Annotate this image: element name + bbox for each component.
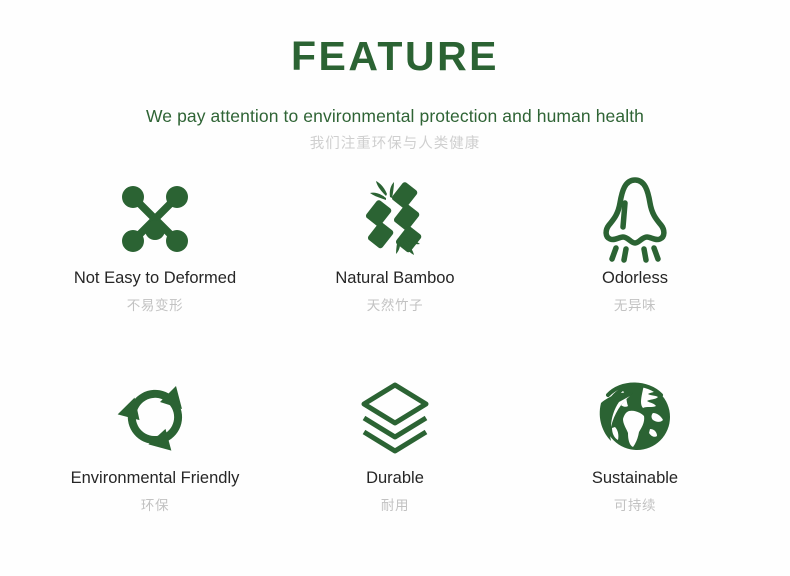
globe-leaf-icon [593, 369, 677, 465]
page-title: FEATURE [0, 36, 790, 77]
feature-item-sustainable: Sustainable 可持续 [515, 369, 755, 565]
feature-label-en: Not Easy to Deformed [74, 269, 236, 287]
feature-label-en: Durable [366, 469, 424, 487]
feature-section: FEATURE We pay attention to environmenta… [0, 0, 790, 576]
feature-item-not-easy-to-deformed: Not Easy to Deformed 不易变形 [35, 173, 275, 369]
feature-label-en: Sustainable [592, 469, 678, 487]
subtitle-english: We pay attention to environmental protec… [0, 107, 790, 126]
feature-label-cn: 天然竹子 [367, 299, 423, 314]
nose-icon [598, 173, 672, 265]
feature-label-cn: 耐用 [381, 499, 409, 514]
feature-label-cn: 不易变形 [127, 299, 183, 314]
recycle-icon [113, 369, 197, 465]
feature-label-en: Environmental Friendly [71, 469, 240, 487]
feature-item-natural-bamboo: Natural Bamboo 天然竹子 [275, 173, 515, 369]
feature-item-odorless: Odorless 无异味 [515, 173, 755, 369]
feature-label-cn: 无异味 [614, 299, 656, 314]
feature-label-en: Natural Bamboo [335, 269, 454, 287]
layers-icon [357, 369, 433, 465]
feature-grid: Not Easy to Deformed 不易变形 [35, 173, 755, 565]
feature-label-cn: 可持续 [614, 499, 656, 514]
bamboo-icon [356, 173, 434, 265]
feature-item-durable: Durable 耐用 [275, 369, 515, 565]
section-header: FEATURE We pay attention to environmenta… [0, 0, 790, 153]
feature-item-environmental-friendly: Environmental Friendly 环保 [35, 369, 275, 565]
feature-label-cn: 环保 [141, 499, 169, 514]
molecule-icon [115, 173, 195, 265]
feature-label-en: Odorless [602, 269, 668, 287]
subtitle-chinese: 我们注重环保与人类健康 [0, 137, 790, 153]
